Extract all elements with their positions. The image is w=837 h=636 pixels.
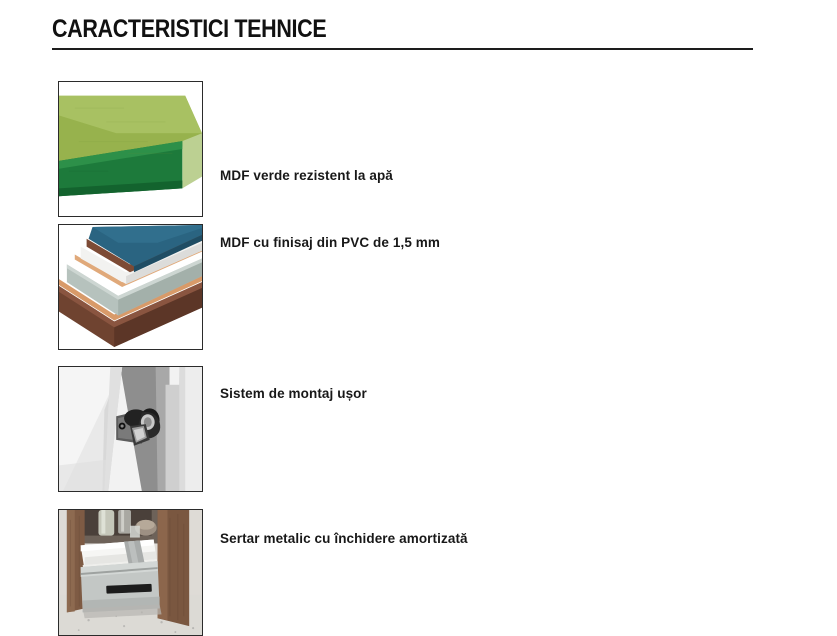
page-title: CARACTERISTICI TEHNICE: [52, 14, 655, 44]
feature-label: Sistem de montaj ușor: [220, 386, 367, 401]
feature-image-frame: [58, 509, 203, 636]
feature-label: Sertar metalic cu închidere amortizată: [220, 531, 468, 546]
soft-close-metal-drawer-photo: [59, 510, 202, 635]
feature-image-frame: [58, 224, 203, 350]
title-divider: [52, 48, 753, 50]
feature-image-frame: [58, 366, 203, 492]
feature-image-frame: [58, 81, 203, 217]
feature-label: MDF cu finisaj din PVC de 1,5 mm: [220, 235, 440, 250]
page-header: CARACTERISTICI TEHNICE: [52, 14, 753, 44]
feature-label: MDF verde rezistent la apă: [220, 168, 393, 183]
layered-pvc-finish-mdf-corner-photo: [59, 225, 202, 349]
easy-mounting-hinge-system-photo: [59, 367, 202, 491]
green-water-resistant-mdf-board-photo: [59, 82, 202, 216]
